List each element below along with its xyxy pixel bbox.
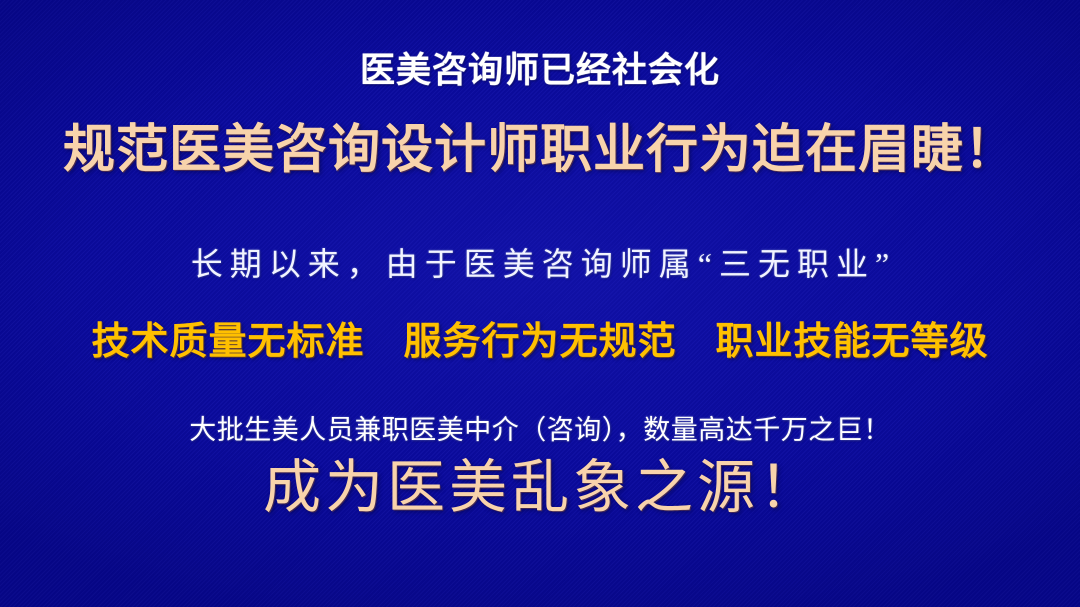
presentation-slide: 医美咨询师已经社会化 规范医美咨询设计师职业行为迫在眉睫！ 长期以来，由于医美咨… — [0, 0, 1080, 607]
slide-body-line-1: 长期以来，由于医美咨询师属“三无职业” — [0, 247, 1080, 282]
slide-content: 医美咨询师已经社会化 规范医美咨询设计师职业行为迫在眉睫！ 长期以来，由于医美咨… — [0, 0, 1080, 607]
slide-body-line-2: 大批生美人员兼职医美中介（咨询），数量高达千万之巨！ — [0, 416, 1080, 446]
slide-gold-line: 技术质量无标准 服务行为无规范 职业技能无等级 — [0, 322, 1080, 364]
slide-heading: 医美咨询师已经社会化 — [0, 52, 1080, 91]
slide-conclusion: 成为医美乱象之源！ — [0, 456, 1080, 520]
slide-headline: 规范医美咨询设计师职业行为迫在眉睫！ — [0, 122, 1080, 179]
